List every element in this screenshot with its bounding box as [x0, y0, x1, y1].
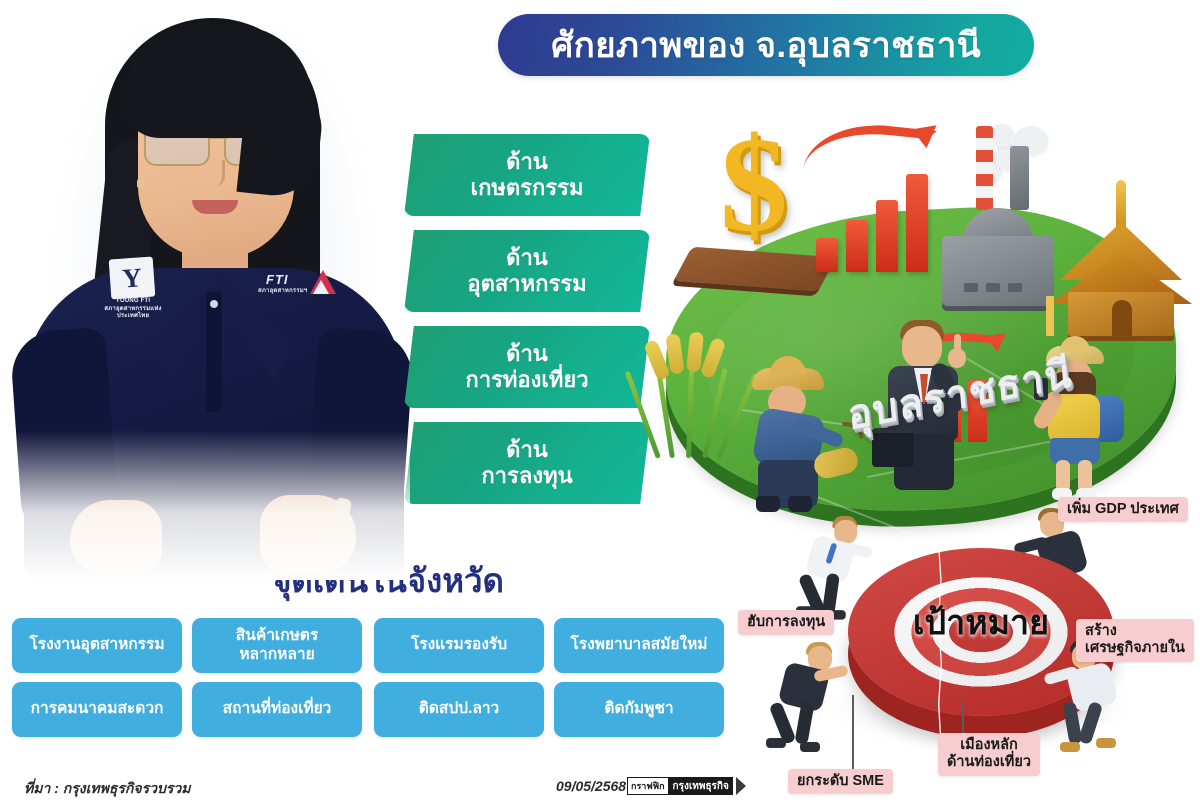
highlights-grid: โรงงานอุตสาหกรรม สินค้าเกษตร หลากหลาย โร… — [12, 618, 724, 740]
infographic-canvas: ศักยภาพของ จ.อุบลราชธานี Y YOUNG — [0, 0, 1200, 811]
goal-target-illustration: เป้าหมาย เพิ่ม GDP ประเทศ ฮับการลงทุน — [740, 490, 1200, 811]
rice-stalk — [656, 367, 675, 459]
goal-label-investment-hub: ฮับการลงทุน — [738, 610, 834, 635]
young-fti-name: YOUNG FTI — [104, 298, 162, 306]
goal-label-tourism-line1: เมืองหลัก — [947, 737, 1031, 754]
goal-label-internal-economy: สร้าง เศรษฐกิจภายใน — [1076, 619, 1194, 662]
photo-fade-overlay — [10, 430, 410, 580]
highlight-line1: โรงแรมรองรับ — [411, 636, 507, 655]
farmer-figure — [742, 360, 852, 510]
highlight-line2: หลากหลาย — [239, 646, 314, 665]
mouth — [192, 200, 238, 214]
goal-label-sme: ยกระดับ SME — [788, 769, 893, 794]
earring — [137, 178, 144, 189]
sector-card-industry[interactable]: ด้าน อุตสาหกรรม — [404, 230, 650, 312]
pusher-figure-bottom-left — [772, 640, 856, 744]
highlight-line1: การคมนาคมสะดวก — [31, 700, 164, 719]
fti-triangle-inner-icon — [313, 280, 329, 294]
factory-chimney-striped — [976, 126, 993, 210]
goal-label-gdp: เพิ่ม GDP ประเทศ — [1058, 497, 1188, 522]
young-fti-sub: สภาอุตสาหกรรมแห่งประเทศไทย — [104, 306, 162, 321]
sector-card-line1: ด้าน — [506, 246, 548, 271]
publish-date: 09/05/2568 — [556, 778, 626, 794]
young-fti-letter: Y — [121, 264, 142, 292]
factory-window — [1008, 283, 1022, 292]
goal-label-economy-line2: เศรษฐกิจภายใน — [1085, 640, 1185, 657]
goal-label-tourism-city: เมืองหลัก ด้านท่องเที่ยว — [938, 733, 1040, 776]
highlight-card-modern-hospitals[interactable]: โรงพยาบาลสมัยใหม่ — [554, 618, 724, 673]
temple-column — [1046, 296, 1054, 336]
source-credit: ที่มา : กรุงเทพธุรกิจรวบรวม — [24, 778, 190, 800]
play-arrow-icon — [736, 777, 746, 795]
sector-card-list: ด้าน เกษตรกรรม ด้าน อุตสาหกรรม ด้าน การท… — [404, 134, 658, 494]
highlight-line1: ติดสปป.ลาว — [419, 700, 499, 719]
highlight-line1: โรงงานอุตสาหกรรม — [29, 636, 164, 655]
shirt-placket — [206, 292, 222, 412]
sector-card-line2: การลงทุน — [481, 464, 572, 489]
sector-card-line2: เกษตรกรรม — [471, 176, 584, 201]
goal-label-tourism-line2: ด้านท่องเที่ยว — [947, 754, 1031, 771]
sector-card-line2: การท่องเที่ยว — [465, 368, 588, 393]
hair-front — [122, 26, 312, 138]
factory-window — [964, 283, 978, 292]
sector-card-agriculture[interactable]: ด้าน เกษตรกรรม — [404, 134, 650, 216]
pusher-leg — [794, 701, 814, 745]
young-fti-label: YOUNG FTI สภาอุตสาหกรรมแห่งประเทศไทย — [104, 298, 162, 321]
page-title-pill: ศักยภาพของ จ.อุบลราชธานี — [498, 14, 1034, 76]
highlight-card-hotels[interactable]: โรงแรมรองรับ — [374, 618, 544, 673]
chart-bar — [906, 174, 928, 272]
spokesperson-photo: Y YOUNG FTI สภาอุตสาหกรรมแห่งประเทศไทย F… — [10, 0, 410, 580]
highlight-card-transport[interactable]: การคมนาคมสะดวก — [12, 682, 182, 737]
dollar-sign-icon: $ — [706, 110, 802, 260]
fti-sub: สภาอุตสาหกรรมฯ — [258, 285, 307, 295]
highlight-card-tourist-attractions[interactable]: สถานที่ท่องเที่ยว — [192, 682, 362, 737]
young-fti-logo-icon: Y — [109, 257, 156, 300]
sector-card-line1: ด้าน — [506, 150, 548, 175]
highlight-card-border-laos[interactable]: ติดสปป.ลาว — [374, 682, 544, 737]
factory-body — [942, 236, 1054, 306]
credit-graphic-label: กราฟฟิก — [627, 777, 669, 795]
highlight-line1: โรงพยาบาลสมัยใหม่ — [570, 636, 707, 655]
chart-bar — [816, 238, 838, 272]
rice-stalk — [686, 366, 694, 458]
pusher-leg — [822, 573, 840, 615]
chart-bar — [876, 200, 898, 272]
pusher-shoe — [1060, 742, 1080, 752]
factory-window — [986, 283, 1000, 292]
businessman-pointing-finger — [954, 334, 961, 354]
goal-label-economy-line1: สร้าง — [1085, 623, 1185, 640]
sector-card-tourism[interactable]: ด้าน การท่องเที่ยว — [404, 326, 650, 408]
credit-brand-label: กรุงเทพธุรกิจ — [669, 777, 733, 795]
highlight-card-industrial-factories[interactable]: โรงงานอุตสาหกรรม — [12, 618, 182, 673]
province-map-illustration: $ — [646, 80, 1200, 510]
factory-chimney-grey — [1010, 146, 1029, 210]
businessman-head — [902, 326, 942, 368]
pusher-shoe — [1096, 738, 1116, 748]
highlight-line1: สินค้าเกษตร — [236, 627, 318, 646]
highlight-line1: สถานที่ท่องเที่ยว — [223, 700, 332, 719]
pusher-shoe — [766, 738, 786, 748]
tourist-skirt — [1050, 438, 1100, 464]
sector-card-investment[interactable]: ด้าน การลงทุน — [404, 422, 650, 504]
pusher-shoe — [800, 742, 820, 752]
fti-logo-icon: FTI สภาอุตสาหกรรมฯ — [258, 272, 332, 302]
bar-chart-icon — [816, 172, 946, 272]
nose — [208, 160, 225, 186]
highlight-card-border-cambodia[interactable]: ติดกัมพูชา — [554, 682, 724, 737]
highlight-card-agricultural-products[interactable]: สินค้าเกษตร หลากหลาย — [192, 618, 362, 673]
callout-leader-line — [962, 702, 964, 734]
page-title: ศักยภาพของ จ.อุบลราชธานี — [551, 18, 981, 73]
rice-plant-icon — [650, 338, 736, 458]
sector-card-line2: อุตสาหกรรม — [467, 272, 586, 297]
highlight-line1: ติดกัมพูชา — [604, 700, 673, 719]
callout-leader-line — [852, 695, 854, 769]
graphic-credit-badge: กราฟฟิก กรุงเทพธุรกิจ — [627, 777, 746, 795]
thai-temple-icon — [1046, 174, 1196, 334]
sector-card-line1: ด้าน — [506, 438, 548, 463]
chart-bar — [846, 220, 868, 272]
shirt-button — [210, 300, 218, 308]
sector-card-line1: ด้าน — [506, 342, 548, 367]
